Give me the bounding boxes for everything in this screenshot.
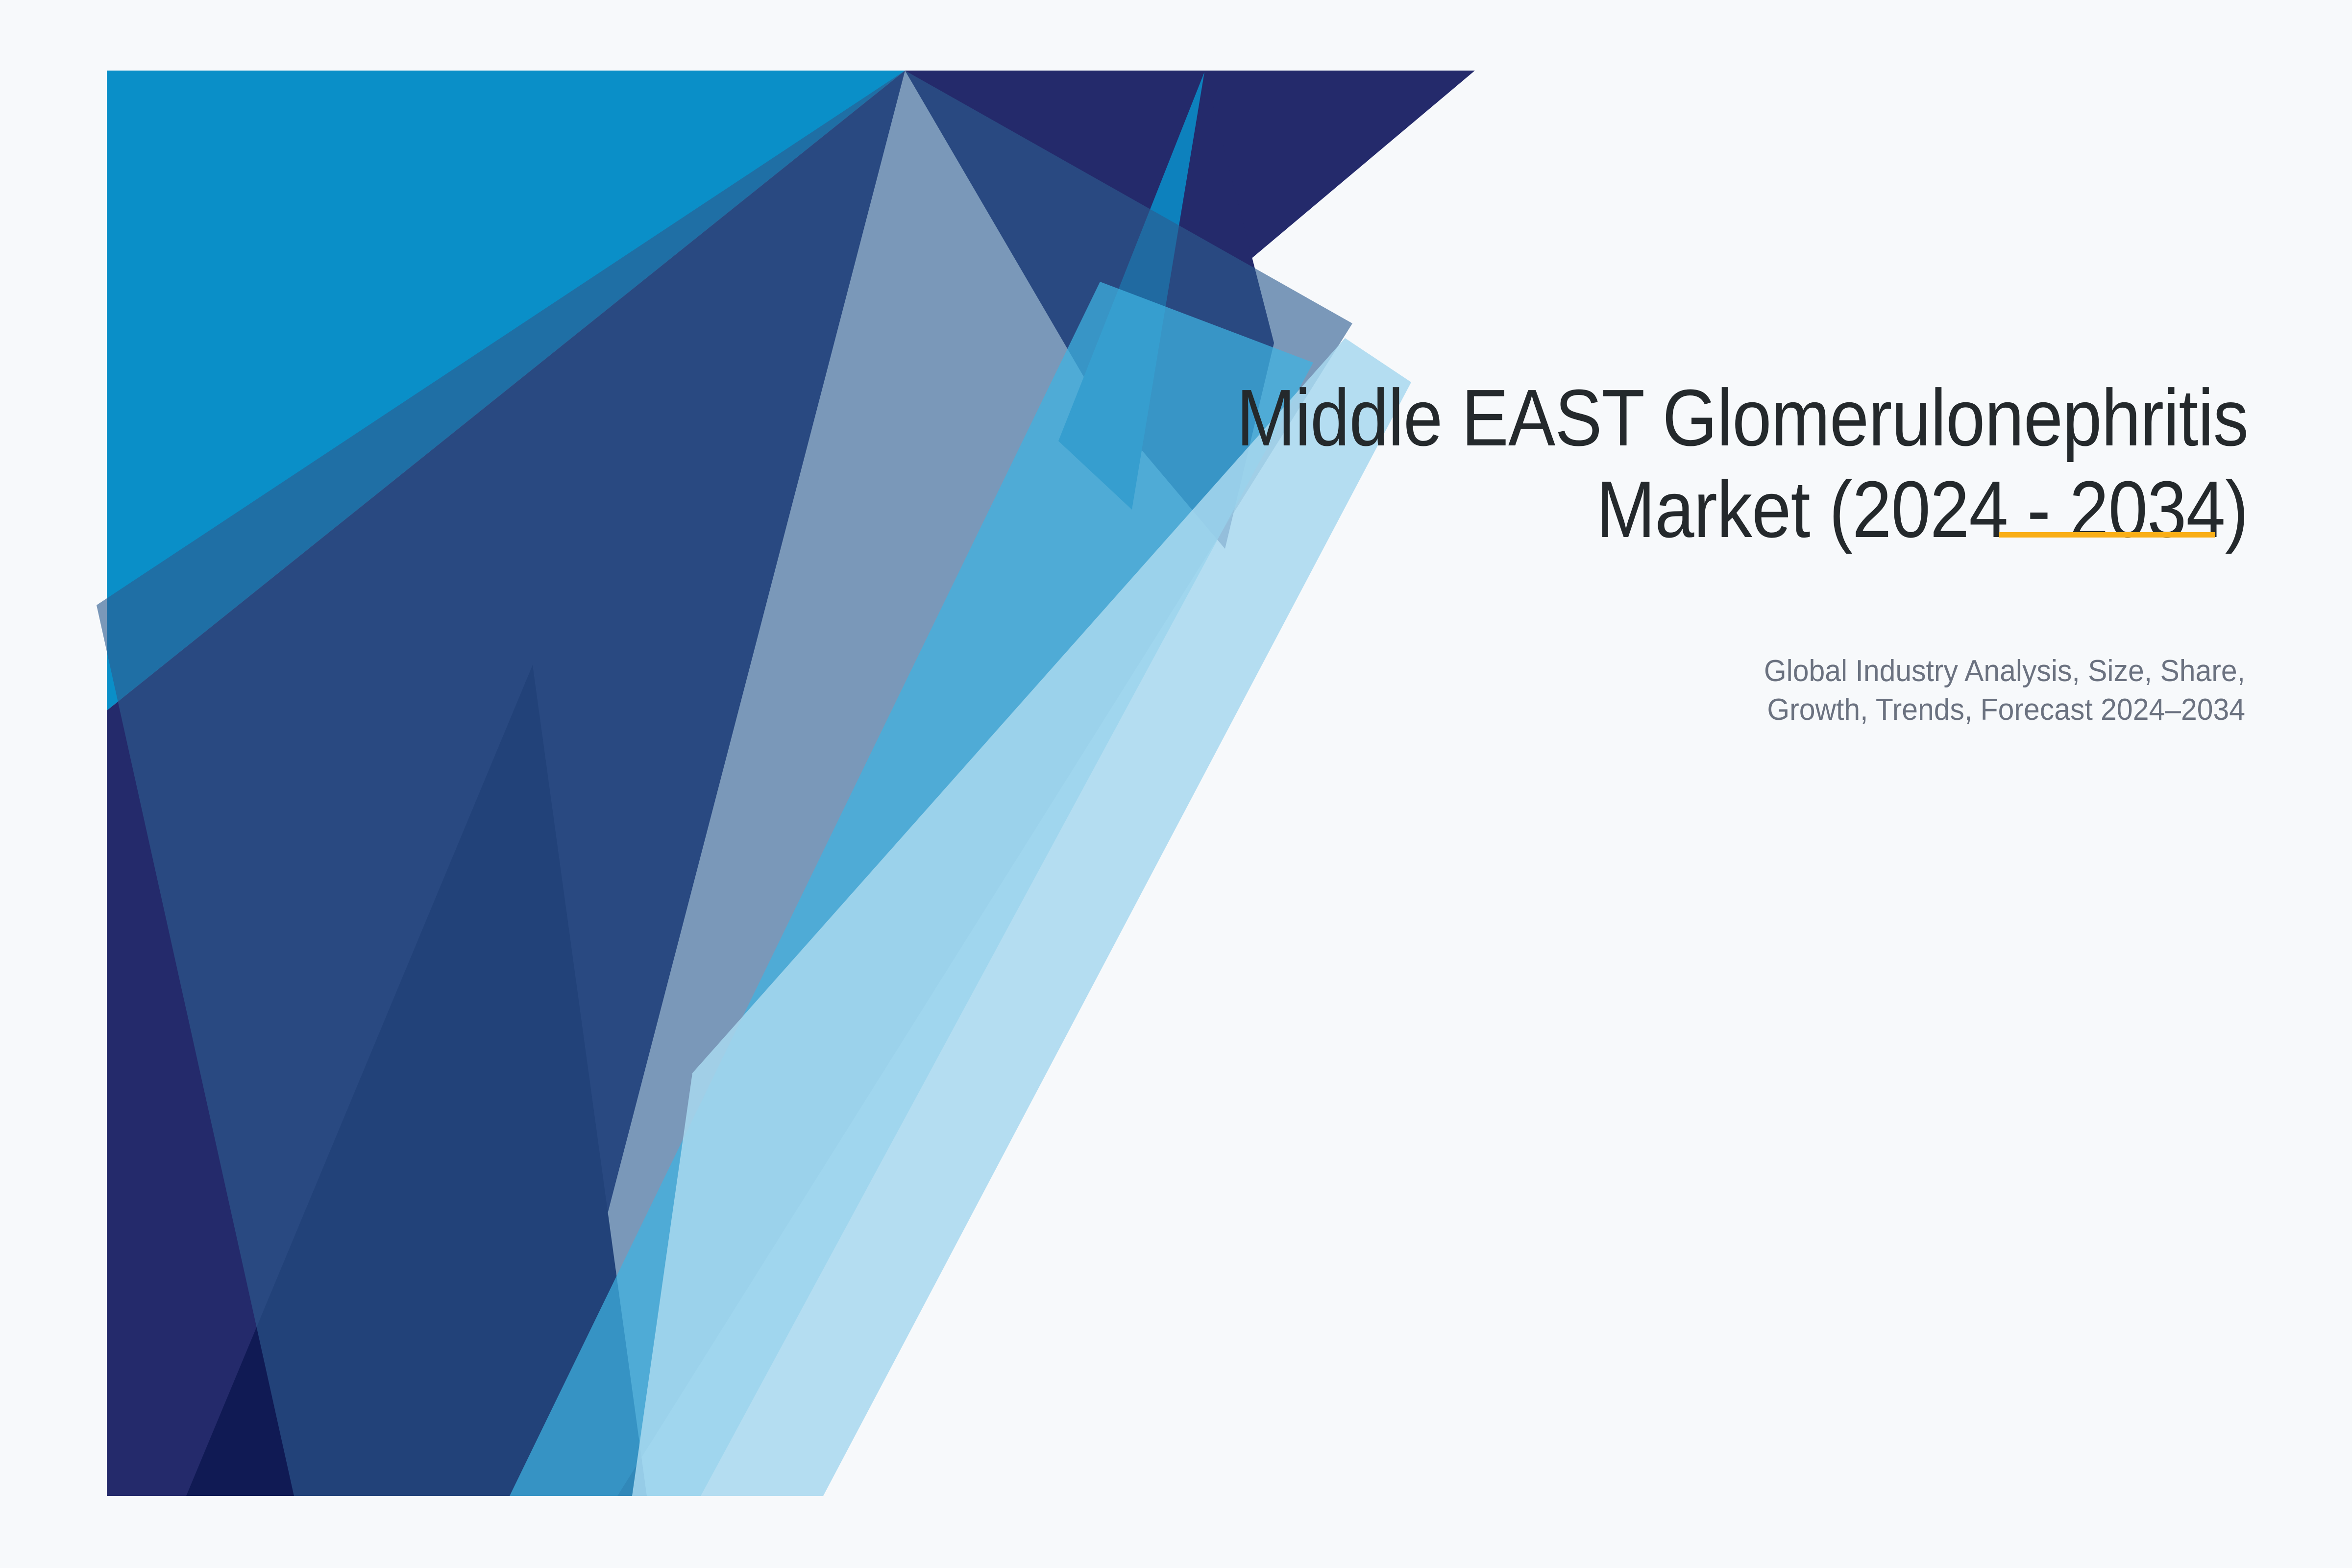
cover-title-block: Middle EAST Glomerulonephritis Market (2…	[925, 372, 2248, 556]
title-accent-underline	[1999, 532, 2215, 538]
report-cover-page: Middle EAST Glomerulonephritis Market (2…	[0, 0, 2352, 1568]
abstract-geometric-artwork	[0, 0, 2352, 1568]
page-subtitle: Global Industry Analysis, Size, Share, G…	[1128, 652, 2245, 730]
page-title: Middle EAST Glomerulonephritis Market (2…	[1084, 372, 2248, 556]
